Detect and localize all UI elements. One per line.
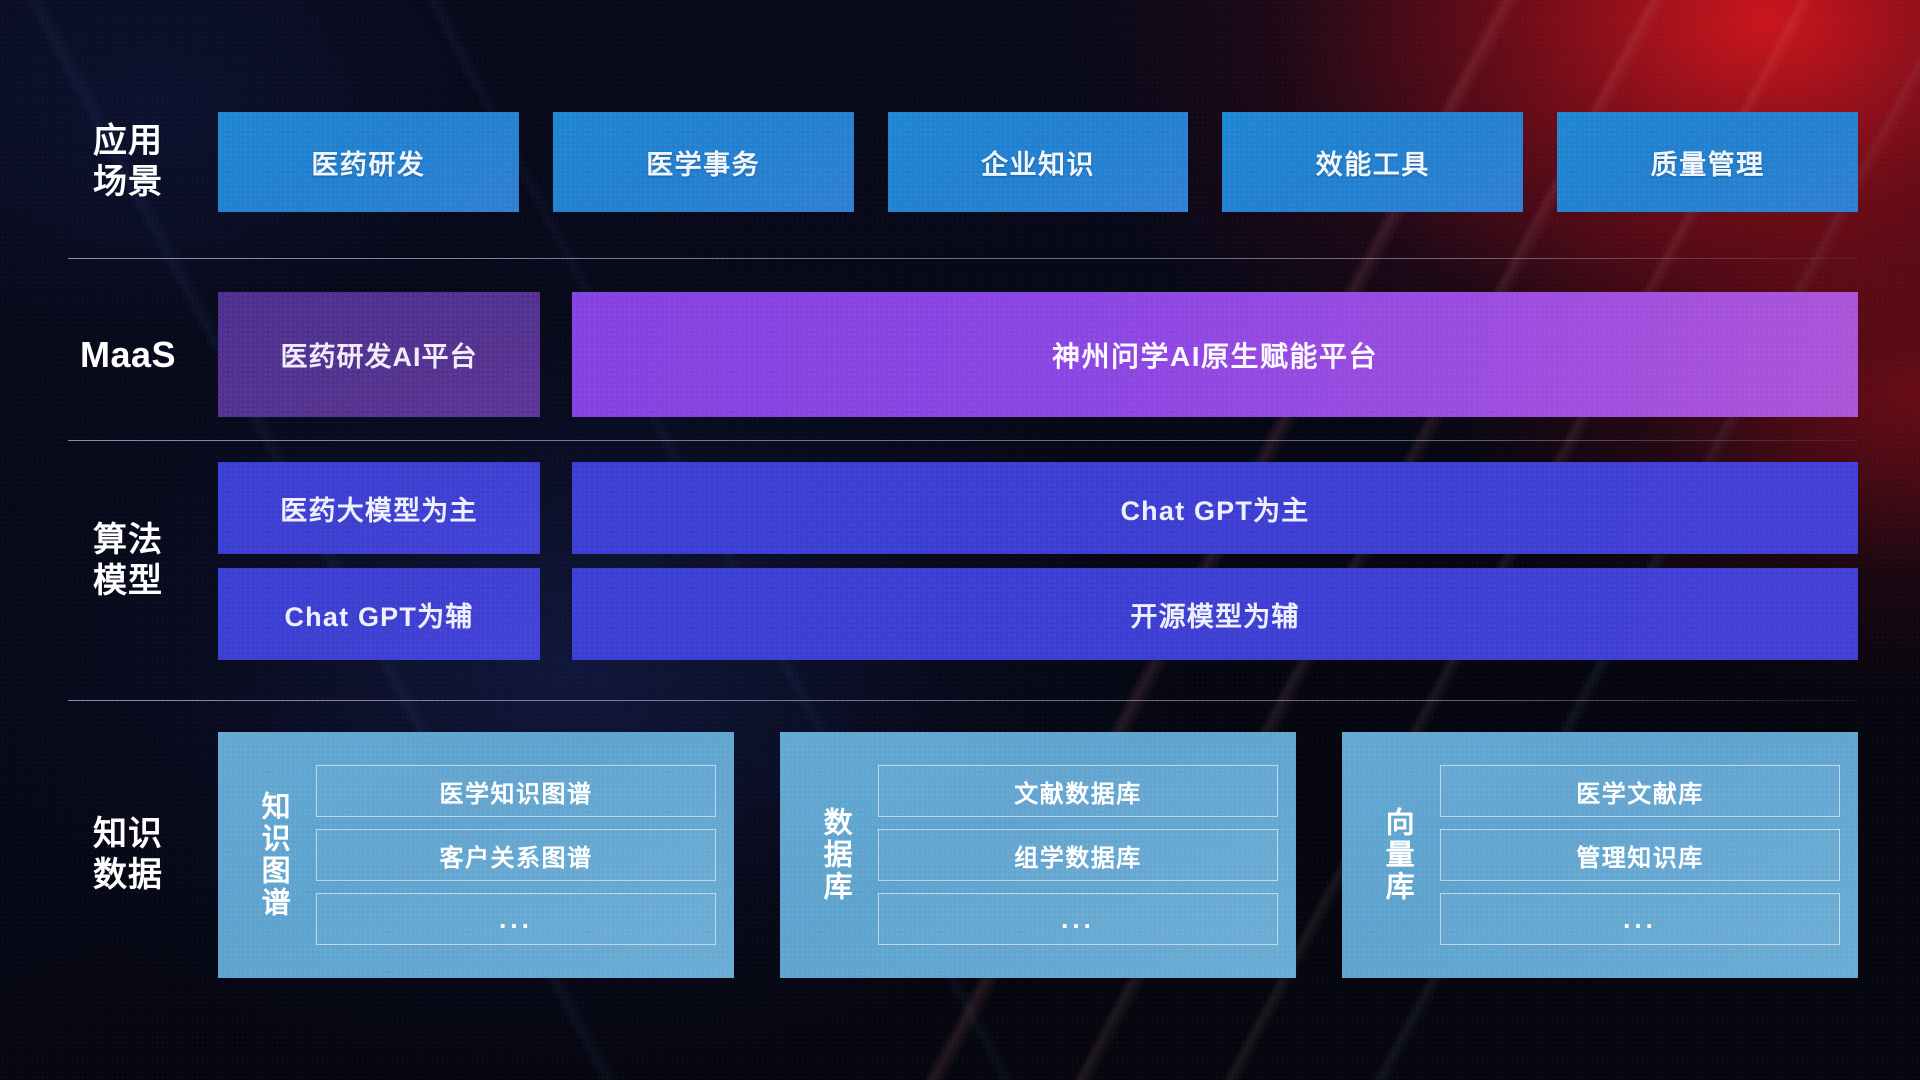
divider-maas-algo	[68, 440, 1858, 441]
knowledge-item-label: 管理知识库	[1576, 838, 1704, 873]
knowledge-item-list: 医学知识图谱 客户关系图谱 ...	[316, 765, 720, 945]
layer-label-knowledge-data: 知识 数据	[68, 814, 188, 897]
app-box-medical-affairs[interactable]: 医学事务	[553, 112, 854, 212]
app-box-label: 效能工具	[1316, 143, 1430, 182]
knowledge-item-list: 文献数据库 组学数据库 ...	[878, 765, 1282, 945]
algo-box-label: Chat GPT为辅	[284, 595, 473, 634]
knowledge-item-label: ...	[1061, 904, 1095, 935]
app-box-efficiency-tools[interactable]: 效能工具	[1222, 112, 1523, 212]
application-box-list: 医药研发 医学事务 企业知识 效能工具 质量管理	[218, 112, 1858, 212]
algo-box-label: 开源模型为辅	[1130, 595, 1299, 634]
app-box-label: 医学事务	[646, 143, 760, 182]
knowledge-item-more[interactable]: ...	[316, 893, 716, 945]
knowledge-item-list: 医学文献库 管理知识库 ...	[1440, 765, 1844, 945]
knowledge-item[interactable]: 管理知识库	[1440, 829, 1840, 881]
layer-label-application-scenarios: 应用 场景	[68, 121, 188, 204]
knowledge-group-title: 知识图谱	[244, 732, 302, 978]
app-box-label: 医药研发	[311, 143, 425, 182]
maas-box-label: 医药研发AI平台	[281, 335, 478, 374]
knowledge-group-knowledge-graph[interactable]: 知识图谱 医学知识图谱 客户关系图谱 ...	[218, 732, 734, 978]
algorithm-row-secondary: Chat GPT为辅 开源模型为辅	[218, 568, 1858, 660]
algorithm-row-primary: 医药大模型为主 Chat GPT为主	[218, 462, 1858, 554]
knowledge-item-label: 客户关系图谱	[440, 838, 593, 873]
algo-box-chatgpt-secondary[interactable]: Chat GPT为辅	[218, 568, 540, 660]
maas-box-medicine-ai-platform[interactable]: 医药研发AI平台	[218, 292, 540, 417]
knowledge-item-more[interactable]: ...	[878, 893, 1278, 945]
divider-app-maas	[68, 258, 1858, 259]
algorithm-box-list: 医药大模型为主 Chat GPT为主 Chat GPT为辅 开源模型为辅	[218, 462, 1858, 660]
app-box-label: 企业知识	[981, 143, 1095, 182]
knowledge-item-label: 医学文献库	[1576, 774, 1704, 809]
knowledge-item-label: ...	[499, 904, 533, 935]
layer-knowledge-data: 知识 数据 知识图谱 医学知识图谱 客户关系图谱	[0, 732, 1920, 978]
knowledge-item[interactable]: 组学数据库	[878, 829, 1278, 881]
knowledge-group-title: 向量库	[1368, 732, 1426, 978]
algo-box-chatgpt-primary[interactable]: Chat GPT为主	[572, 462, 1858, 554]
knowledge-item[interactable]: 医学文献库	[1440, 765, 1840, 817]
knowledge-item[interactable]: 医学知识图谱	[316, 765, 716, 817]
algo-box-medicine-large-model-primary[interactable]: 医药大模型为主	[218, 462, 540, 554]
knowledge-item-more[interactable]: ...	[1440, 893, 1840, 945]
knowledge-group-vector-database[interactable]: 向量库 医学文献库 管理知识库 ...	[1342, 732, 1858, 978]
layer-label-maas: MaaS	[68, 333, 188, 377]
diagram-canvas: 应用 场景 医药研发 医学事务 企业知识 效能工具 质量管理	[0, 0, 1920, 1080]
algo-box-opensource-secondary[interactable]: 开源模型为辅	[572, 568, 1858, 660]
layer-maas: MaaS 医药研发AI平台 神州问学AI原生赋能平台	[0, 292, 1920, 417]
algo-box-label: 医药大模型为主	[280, 489, 477, 528]
knowledge-group-list: 知识图谱 医学知识图谱 客户关系图谱 ...	[218, 732, 1858, 978]
maas-box-label: 神州问学AI原生赋能平台	[1052, 335, 1378, 375]
app-box-enterprise-knowledge[interactable]: 企业知识	[888, 112, 1189, 212]
app-box-label: 质量管理	[1651, 143, 1765, 182]
knowledge-item[interactable]: 客户关系图谱	[316, 829, 716, 881]
knowledge-item-label: 文献数据库	[1014, 774, 1142, 809]
app-box-medicine-rd[interactable]: 医药研发	[218, 112, 519, 212]
knowledge-group-database[interactable]: 数据库 文献数据库 组学数据库 ...	[780, 732, 1296, 978]
maas-box-list: 医药研发AI平台 神州问学AI原生赋能平台	[218, 292, 1858, 417]
layer-algorithm-models: 算法 模型 医药大模型为主 Chat GPT为主 Chat GPT为辅 开源模型…	[0, 462, 1920, 660]
layer-label-algorithm-models: 算法 模型	[68, 520, 188, 603]
knowledge-group-title: 数据库	[806, 732, 864, 978]
divider-algo-knowledge	[68, 700, 1858, 701]
app-box-quality-management[interactable]: 质量管理	[1557, 112, 1858, 212]
algo-box-label: Chat GPT为主	[1120, 489, 1309, 528]
knowledge-item-label: 医学知识图谱	[440, 774, 593, 809]
knowledge-item-label: 组学数据库	[1014, 838, 1142, 873]
layer-application-scenarios: 应用 场景 医药研发 医学事务 企业知识 效能工具 质量管理	[0, 112, 1920, 212]
knowledge-item[interactable]: 文献数据库	[878, 765, 1278, 817]
maas-box-shenzhou-wenxue-platform[interactable]: 神州问学AI原生赋能平台	[572, 292, 1858, 417]
knowledge-item-label: ...	[1623, 904, 1657, 935]
